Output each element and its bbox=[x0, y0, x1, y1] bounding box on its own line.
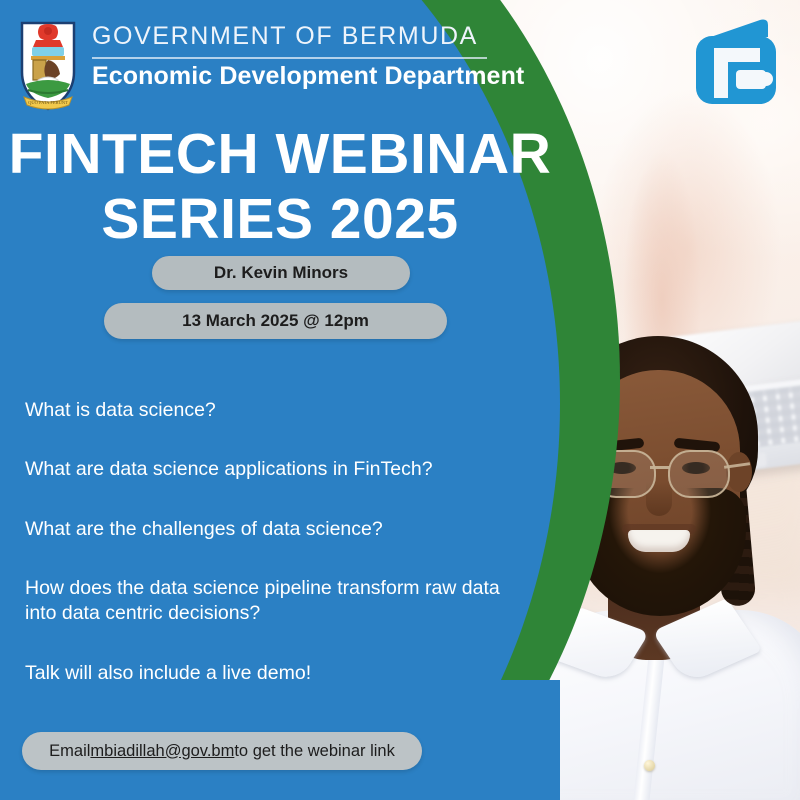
contact-prefix: Email bbox=[49, 742, 90, 761]
topic-item: What are the challenges of data science? bbox=[25, 517, 535, 542]
topic-list: What is data science? What are data scie… bbox=[25, 398, 535, 686]
contact-badge: Email mbiadillah@gov.bm to get the webin… bbox=[22, 732, 422, 770]
topic-item: What are data science applications in Fi… bbox=[25, 457, 535, 482]
eyeglass-bridge bbox=[650, 466, 670, 469]
eyeglass-lens-right bbox=[668, 450, 730, 498]
datetime-text: 13 March 2025 @ 12pm bbox=[182, 311, 369, 331]
svg-text:QUO FATA FERUNT: QUO FATA FERUNT bbox=[28, 100, 68, 105]
government-header: QUO FATA FERUNT GOVERNMENT OF BERMUDA Ec… bbox=[18, 12, 488, 102]
title-line-1: FINTECH WEBINAR bbox=[9, 122, 552, 186]
speaker-badge: Dr. Kevin Minors bbox=[152, 256, 410, 290]
datetime-badge: 13 March 2025 @ 12pm bbox=[104, 303, 447, 339]
topic-item: What is data science? bbox=[25, 398, 535, 423]
smile-teeth bbox=[628, 530, 690, 552]
shirt-button bbox=[644, 760, 655, 771]
header-divider bbox=[92, 57, 487, 59]
speaker-name: Dr. Kevin Minors bbox=[214, 263, 348, 283]
fintech-wallet-logo-icon bbox=[688, 18, 784, 110]
webinar-poster: QUO FATA FERUNT GOVERNMENT OF BERMUDA Ec… bbox=[0, 0, 800, 800]
bermuda-coat-of-arms-icon: QUO FATA FERUNT bbox=[18, 20, 78, 112]
topic-item: How does the data science pipeline trans… bbox=[25, 576, 535, 627]
page-title: FINTECH WEBINAR SERIES 2025 bbox=[0, 122, 560, 252]
topic-item: Talk will also include a live demo! bbox=[25, 661, 535, 686]
department-title: Economic Development Department bbox=[92, 62, 524, 91]
contact-email-link[interactable]: mbiadillah@gov.bm bbox=[90, 742, 234, 761]
government-title: GOVERNMENT OF BERMUDA bbox=[92, 22, 478, 51]
title-line-2: SERIES 2025 bbox=[0, 187, 560, 252]
contact-suffix: to get the webinar link bbox=[234, 742, 395, 761]
